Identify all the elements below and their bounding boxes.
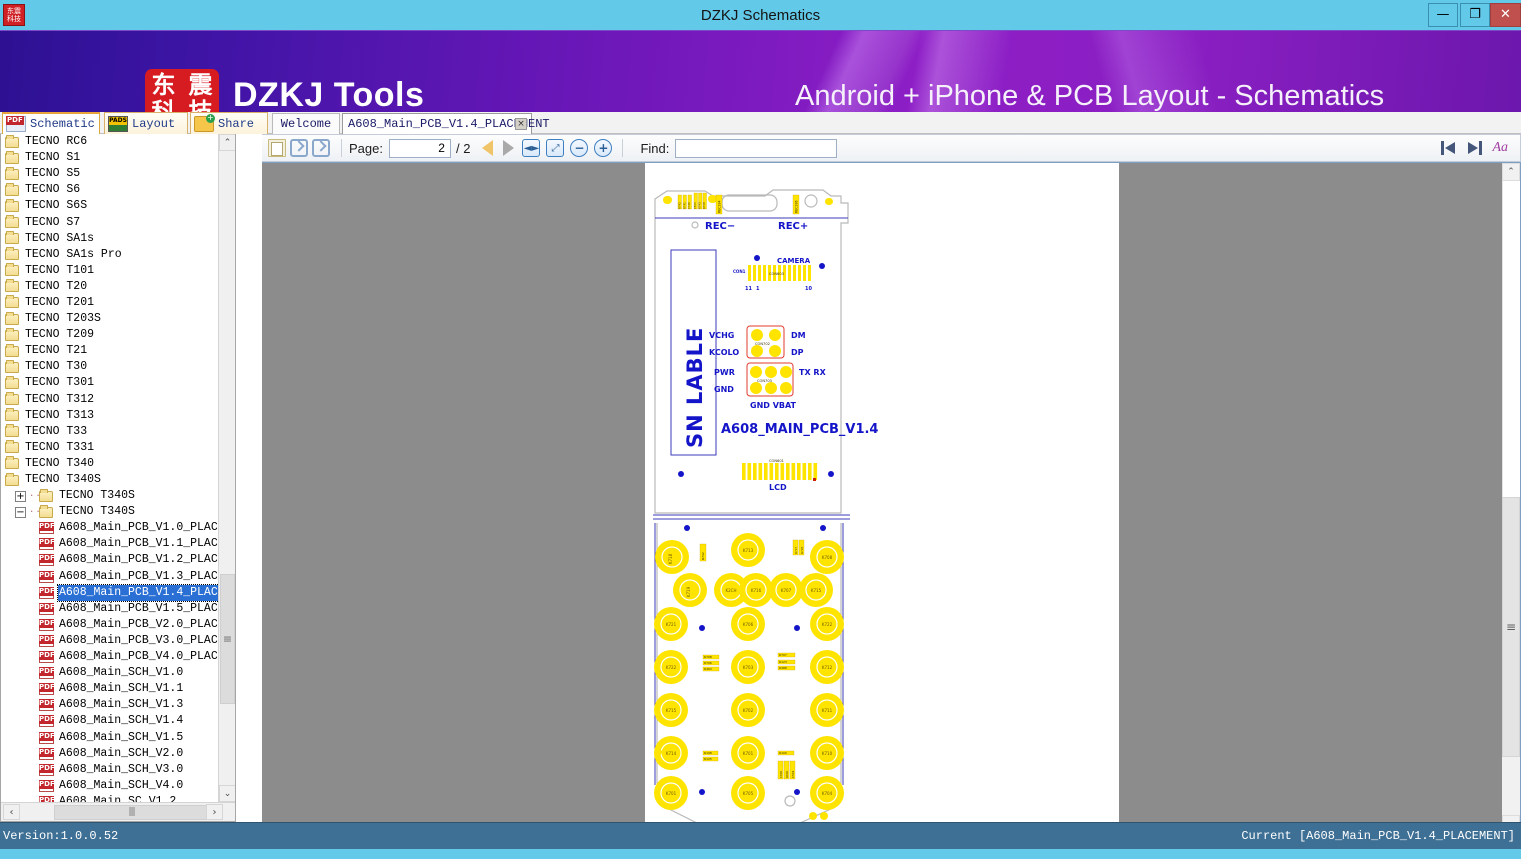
close-icon[interactable]: × bbox=[515, 118, 527, 130]
app-banner: 东 震 科 技 DZKJ Tools Android + iPhone & PC… bbox=[0, 31, 1521, 112]
scroll-up-icon[interactable]: ⌃ bbox=[219, 134, 236, 151]
panel-splitter[interactable] bbox=[236, 134, 262, 822]
tree-folder[interactable]: TECNO S1 bbox=[1, 150, 236, 166]
tree-file[interactable]: A608_Main_PCB_V1.0_PLACEMENT bbox=[1, 520, 236, 536]
collapse-icon[interactable]: − bbox=[15, 507, 26, 518]
tree-file[interactable]: A608_Main_PCB_V1.2_PLACEMENT bbox=[1, 552, 236, 568]
svg-text:R741: R741 bbox=[682, 202, 686, 209]
svg-text:K718: K718 bbox=[668, 553, 673, 564]
folder-icon bbox=[5, 185, 19, 196]
minimize-button[interactable]: — bbox=[1428, 3, 1458, 27]
camera-label: CAMERA bbox=[777, 257, 811, 265]
kcolo-label: KCOLO bbox=[709, 348, 739, 357]
find-previous-icon[interactable] bbox=[1440, 140, 1458, 156]
folder-icon bbox=[5, 297, 19, 308]
tree-vertical-scrollbar[interactable]: ⌃ ⌄ bbox=[218, 134, 235, 802]
share-folder-icon bbox=[194, 116, 214, 132]
svg-text:R600: R600 bbox=[785, 770, 789, 778]
expand-icon[interactable]: + bbox=[15, 491, 26, 502]
pdf-icon bbox=[39, 699, 54, 711]
tree-folder[interactable]: TECNO T101 bbox=[1, 263, 236, 279]
pdf-icon bbox=[39, 748, 54, 760]
maximize-button[interactable]: ❐ bbox=[1460, 3, 1490, 27]
tree-folder[interactable]: TECNO T313 bbox=[1, 408, 236, 424]
svg-text:R198: R198 bbox=[704, 751, 712, 755]
svg-text:K712: K712 bbox=[822, 665, 833, 670]
svg-text:K715: K715 bbox=[666, 708, 677, 713]
fit-page-icon[interactable]: ⤢ bbox=[546, 139, 564, 157]
svg-text:R708: R708 bbox=[702, 202, 706, 209]
tree-folder[interactable]: TECNO T203S bbox=[1, 311, 236, 327]
pdf-icon bbox=[39, 571, 54, 583]
svg-text:R727: R727 bbox=[794, 546, 798, 554]
banner-title: DZKJ Tools bbox=[233, 76, 424, 112]
tree-folder[interactable]: TECNO T33 bbox=[1, 424, 236, 440]
svg-text:K2CH: K2CH bbox=[726, 588, 737, 593]
tree-folder[interactable]: TECNO T30 bbox=[1, 359, 236, 375]
tree-file[interactable]: A608_Main_SCH_V2.0 bbox=[1, 746, 236, 762]
pdf-icon bbox=[39, 683, 54, 695]
svg-text:K707: K707 bbox=[781, 588, 792, 593]
tree-file[interactable]: A608_Main_PCB_V1.1_PLACEMENT bbox=[1, 536, 236, 552]
tree-file[interactable]: A608_Main_SC_V1.2 bbox=[1, 794, 236, 802]
folder-icon bbox=[5, 458, 19, 469]
pdf-viewer[interactable]: .bo { fill:none; stroke:#3b3bbe; stroke-… bbox=[262, 162, 1521, 834]
tab-layout[interactable]: Layout bbox=[104, 112, 188, 134]
gnd-label: GND bbox=[714, 385, 734, 394]
svg-text:K715: K715 bbox=[811, 588, 822, 593]
svg-text:R100: R100 bbox=[779, 751, 787, 755]
tree-folder[interactable]: TECNO T201 bbox=[1, 295, 236, 311]
usb-con-ref: CON702 bbox=[755, 342, 770, 346]
tree-file[interactable]: A608_Main_SCH_V1.0 bbox=[1, 665, 236, 681]
banner-subtitle: Android + iPhone & PCB Layout - Schemati… bbox=[795, 80, 1384, 112]
svg-text:C600: C600 bbox=[779, 770, 783, 778]
folder-icon bbox=[5, 233, 19, 244]
doc-tab-welcome-label: Welcome bbox=[281, 117, 331, 131]
tree-folder[interactable]: TECNO S7 bbox=[1, 214, 236, 230]
svg-text:K701: K701 bbox=[743, 751, 754, 756]
svg-text:R743: R743 bbox=[698, 202, 702, 209]
viewer-vertical-scrollbar[interactable]: ⌃ ⌄ bbox=[1502, 163, 1520, 833]
svg-text:K705: K705 bbox=[743, 791, 754, 796]
tab-layout-label: Layout bbox=[132, 117, 175, 131]
svg-text:R742: R742 bbox=[678, 202, 682, 209]
svg-text:K722: K722 bbox=[822, 622, 833, 627]
logo-char-2: 震 bbox=[182, 72, 219, 99]
tab-share[interactable]: Share bbox=[190, 112, 268, 134]
folder-icon bbox=[5, 217, 19, 228]
tree-file[interactable]: A608_Main_SCH_V1.1 bbox=[1, 681, 236, 697]
folder-icon bbox=[5, 201, 19, 212]
svg-text:K711: K711 bbox=[822, 708, 833, 713]
folder-icon bbox=[5, 410, 19, 421]
doc-tab-welcome[interactable]: Welcome bbox=[272, 113, 340, 134]
logo-char-4: 技 bbox=[182, 99, 219, 112]
zoom-out-button[interactable]: − bbox=[570, 139, 588, 157]
scrollbar-thumb[interactable] bbox=[54, 805, 209, 820]
scroll-left-icon[interactable]: ‹ bbox=[3, 804, 20, 820]
scrollbar-thumb[interactable] bbox=[220, 574, 235, 704]
pdf-icon bbox=[39, 538, 54, 550]
svg-text:K714: K714 bbox=[666, 751, 677, 756]
pads-icon bbox=[108, 116, 128, 132]
svg-text:K701: K701 bbox=[666, 791, 677, 796]
svg-text:K719: K719 bbox=[686, 586, 691, 597]
tree-file[interactable]: A608_Main_PCB_V1.5_PLACEMENT bbox=[1, 601, 236, 617]
find-label: Find: bbox=[640, 141, 669, 156]
tree-horizontal-scrollbar[interactable]: ‹ › bbox=[1, 802, 236, 821]
folder-icon bbox=[5, 153, 19, 164]
folder-icon bbox=[39, 507, 53, 518]
folder-icon bbox=[5, 378, 19, 389]
svg-text:K706: K706 bbox=[743, 622, 754, 627]
doc-tab-active[interactable]: A608_Main_PCB_V1.4_PLACEMENT × bbox=[342, 113, 532, 134]
folder-icon bbox=[5, 330, 19, 341]
pdf-icon bbox=[39, 635, 54, 647]
tree-folder[interactable]: TECNO S6S bbox=[1, 198, 236, 214]
gnd-vbat-label: GND VBAT bbox=[750, 401, 797, 410]
folder-icon bbox=[39, 491, 53, 502]
svg-text:K716: K716 bbox=[751, 588, 762, 593]
fit-width-icon[interactable]: ◄► bbox=[522, 139, 540, 157]
svg-text:K703: K703 bbox=[743, 665, 754, 670]
tree-file[interactable]: A608_Main_SCH_V1.3 bbox=[1, 697, 236, 713]
folder-icon bbox=[5, 362, 19, 373]
tx-rx-label: TX RX bbox=[799, 368, 827, 377]
camera-con-ref: CON603 bbox=[769, 272, 784, 276]
lcd-con-ref: CON601 bbox=[769, 459, 784, 463]
tree-subfolder-expanded[interactable]: − ·· TECNO T340S bbox=[1, 504, 236, 520]
tree-connector: ·· bbox=[29, 504, 39, 520]
folder-icon bbox=[5, 346, 19, 357]
next-page-icon[interactable] bbox=[503, 140, 514, 156]
folder-icon bbox=[5, 442, 19, 453]
pdf-icon bbox=[39, 732, 54, 744]
toolbar-separator bbox=[622, 139, 623, 157]
vchg-label: VCHG bbox=[709, 331, 734, 340]
sn-lable-text: SN LABLE bbox=[683, 327, 707, 448]
pdf-icon bbox=[39, 651, 54, 663]
tree-folder[interactable]: TECNO T20 bbox=[1, 279, 236, 295]
svg-text:K704: K704 bbox=[822, 791, 833, 796]
current-file-label: Current [A608_Main_PCB_V1.4_PLACEMENT] bbox=[1241, 823, 1515, 850]
pdf-icon bbox=[6, 116, 26, 132]
svg-text:C501: C501 bbox=[791, 770, 795, 778]
tree-folder[interactable]: TECNO T21 bbox=[1, 343, 236, 359]
page-total: / 2 bbox=[456, 141, 470, 156]
find-input[interactable] bbox=[675, 139, 837, 158]
pdf-page: .bo { fill:none; stroke:#3b3bbe; stroke-… bbox=[645, 163, 1119, 834]
svg-text:REC336: REC336 bbox=[795, 200, 799, 213]
tree-folder[interactable]: TECNO T301 bbox=[1, 375, 236, 391]
camera-pin-11: 11 bbox=[745, 286, 752, 292]
svg-text:R726: R726 bbox=[800, 546, 804, 554]
folder-icon bbox=[5, 281, 19, 292]
tree-file[interactable]: A608_Main_PCB_V3.0_PLACEMENT bbox=[1, 633, 236, 649]
tree-file[interactable]: A608_Main_SCH_V1.4 bbox=[1, 713, 236, 729]
folder-icon bbox=[5, 475, 19, 486]
find-next-icon[interactable] bbox=[1465, 140, 1483, 156]
svg-text:K713: K713 bbox=[743, 548, 754, 553]
tree-folder[interactable]: TECNO T312 bbox=[1, 392, 236, 408]
folder-icon bbox=[5, 169, 19, 180]
pdf-icon bbox=[39, 522, 54, 534]
scrollbar-track[interactable] bbox=[1502, 181, 1520, 497]
tab-strip: Schematic Layout Share Welcome A608_Main… bbox=[0, 112, 1521, 134]
file-tree[interactable]: TECNO RC6 TECNO S1 TECNO S5 TECNO S6 TEC… bbox=[1, 134, 236, 802]
camera-pin-1: 1 bbox=[756, 286, 760, 292]
board-title: A608_MAIN_PCB_V1.4 bbox=[721, 422, 878, 437]
svg-text:REC334: REC334 bbox=[718, 200, 722, 213]
svg-text:K710: K710 bbox=[822, 751, 833, 756]
bat-con-ref: CON703 bbox=[757, 379, 772, 383]
pdf-icon bbox=[39, 715, 54, 727]
pdf-icon bbox=[39, 603, 54, 615]
tab-share-label: Share bbox=[218, 117, 254, 131]
tree-folder[interactable]: TECNO SA1s bbox=[1, 231, 236, 247]
tree-folder[interactable]: TECNO T331 bbox=[1, 440, 236, 456]
folder-icon bbox=[5, 314, 19, 325]
version-label: Version:1.0.0.52 bbox=[3, 823, 118, 850]
pdf-icon bbox=[39, 619, 54, 631]
svg-text:R742: R742 bbox=[701, 552, 705, 560]
svg-text:K722: K722 bbox=[666, 665, 677, 670]
copy-icon[interactable] bbox=[268, 139, 286, 157]
window-bottom-edge bbox=[0, 849, 1521, 859]
tree-file[interactable]: A608_Main_SCH_V3.0 bbox=[1, 762, 236, 778]
svg-text:R463: R463 bbox=[704, 667, 712, 671]
status-bar: Version:1.0.0.52 Current [A608_Main_PCB_… bbox=[0, 822, 1521, 849]
logo-char-1: 东 bbox=[145, 72, 182, 99]
title-bar: 东震科技 DZKJ Schematics — ❐ ✕ bbox=[0, 0, 1521, 31]
dp-label: DP bbox=[791, 348, 804, 357]
svg-text:R708: R708 bbox=[704, 655, 712, 659]
camera-con1-label: CON1 bbox=[733, 269, 746, 274]
tree-folder[interactable]: TECNO SA1s Pro bbox=[1, 247, 236, 263]
tree-file[interactable]: A608_Main_SCH_V1.5 bbox=[1, 729, 236, 745]
svg-text:C500: C500 bbox=[693, 202, 697, 209]
pdf-icon bbox=[39, 764, 54, 776]
pdf-icon bbox=[39, 587, 54, 599]
svg-text:R125: R125 bbox=[704, 757, 712, 761]
tree-file-selected[interactable]: A608_Main_PCB_V1.4_PLACEMENT bbox=[1, 585, 236, 601]
tree-file[interactable]: A608_Main_PCB_V4.0_PLACEMENT bbox=[1, 649, 236, 665]
svg-text:K702: K702 bbox=[743, 708, 754, 713]
pwr-label: PWR bbox=[714, 368, 735, 377]
svg-text:K708: K708 bbox=[822, 555, 833, 560]
tree-folder[interactable]: TECNO T340 bbox=[1, 456, 236, 472]
svg-text:C726: C726 bbox=[687, 202, 691, 209]
scroll-up-icon[interactable]: ⌃ bbox=[1502, 163, 1520, 181]
file-tree-panel: TECNO RC6 TECNO S1 TECNO S5 TECNO S6 TEC… bbox=[0, 134, 236, 822]
tree-folder[interactable]: TECNO T340S bbox=[1, 472, 236, 488]
tab-schematic-label: Schematic bbox=[30, 117, 95, 131]
folder-icon bbox=[5, 137, 19, 148]
pdf-toolbar: Page: 2 / 2 ◄► ⤢ − + Find: Aa bbox=[262, 134, 1521, 162]
tree-folder[interactable]: TECNO S6 bbox=[1, 182, 236, 198]
pdf-icon bbox=[39, 667, 54, 679]
rec-plus-label: REC+ bbox=[778, 221, 808, 232]
tree-subfolder-collapsed[interactable]: + ·· TECNO T340S bbox=[1, 488, 236, 504]
pdf-icon bbox=[39, 554, 54, 566]
dzkj-logo: 东 震 科 技 bbox=[145, 69, 219, 112]
svg-text:R706: R706 bbox=[704, 661, 712, 665]
page-input[interactable]: 2 bbox=[389, 139, 451, 158]
previous-page-icon[interactable] bbox=[482, 140, 493, 156]
rec-minus-label: REC− bbox=[705, 221, 735, 232]
dm-label: DM bbox=[791, 331, 806, 340]
rotate-clockwise-icon[interactable] bbox=[290, 139, 308, 157]
lcd-label: LCD bbox=[769, 483, 787, 492]
scrollbar-thumb[interactable] bbox=[1502, 497, 1520, 757]
svg-text:R488: R488 bbox=[779, 666, 787, 670]
folder-icon bbox=[5, 265, 19, 276]
tab-schematic[interactable]: Schematic bbox=[2, 112, 100, 134]
folder-icon bbox=[5, 426, 19, 437]
folder-icon bbox=[5, 249, 19, 260]
close-button[interactable]: ✕ bbox=[1490, 3, 1521, 27]
find-case-icon[interactable]: Aa bbox=[1492, 140, 1508, 156]
svg-text:K721: K721 bbox=[666, 622, 677, 627]
window-title: DZKJ Schematics bbox=[0, 0, 1521, 31]
toolbar-separator bbox=[341, 139, 342, 157]
tree-file[interactable]: A608_Main_PCB_V2.0_PLACEMENT bbox=[1, 617, 236, 633]
tree-file[interactable]: A608_Main_PCB_V1.3_PLACEMENT bbox=[1, 569, 236, 585]
camera-pin-10: 10 bbox=[805, 286, 812, 292]
scroll-down-icon[interactable]: ⌄ bbox=[219, 785, 236, 802]
svg-text:R707: R707 bbox=[779, 653, 787, 657]
tree-folder[interactable]: TECNO RC6 bbox=[1, 134, 236, 150]
tree-folder[interactable]: TECNO T209 bbox=[1, 327, 236, 343]
zoom-in-button[interactable]: + bbox=[594, 139, 612, 157]
folder-icon bbox=[5, 394, 19, 405]
pdf-icon bbox=[39, 780, 54, 792]
tree-file[interactable]: A608_Main_SCH_V4.0 bbox=[1, 778, 236, 794]
svg-text:R123: R123 bbox=[779, 660, 787, 664]
rotate-counterclockwise-icon[interactable] bbox=[312, 139, 330, 157]
pcb-placement-drawing: .bo { fill:none; stroke:#3b3bbe; stroke-… bbox=[645, 163, 1119, 834]
page-label: Page: bbox=[349, 141, 383, 156]
logo-char-3: 科 bbox=[145, 99, 182, 112]
scroll-right-icon[interactable]: › bbox=[206, 804, 223, 820]
tree-folder[interactable]: TECNO S5 bbox=[1, 166, 236, 182]
tree-connector: ·· bbox=[29, 488, 39, 504]
